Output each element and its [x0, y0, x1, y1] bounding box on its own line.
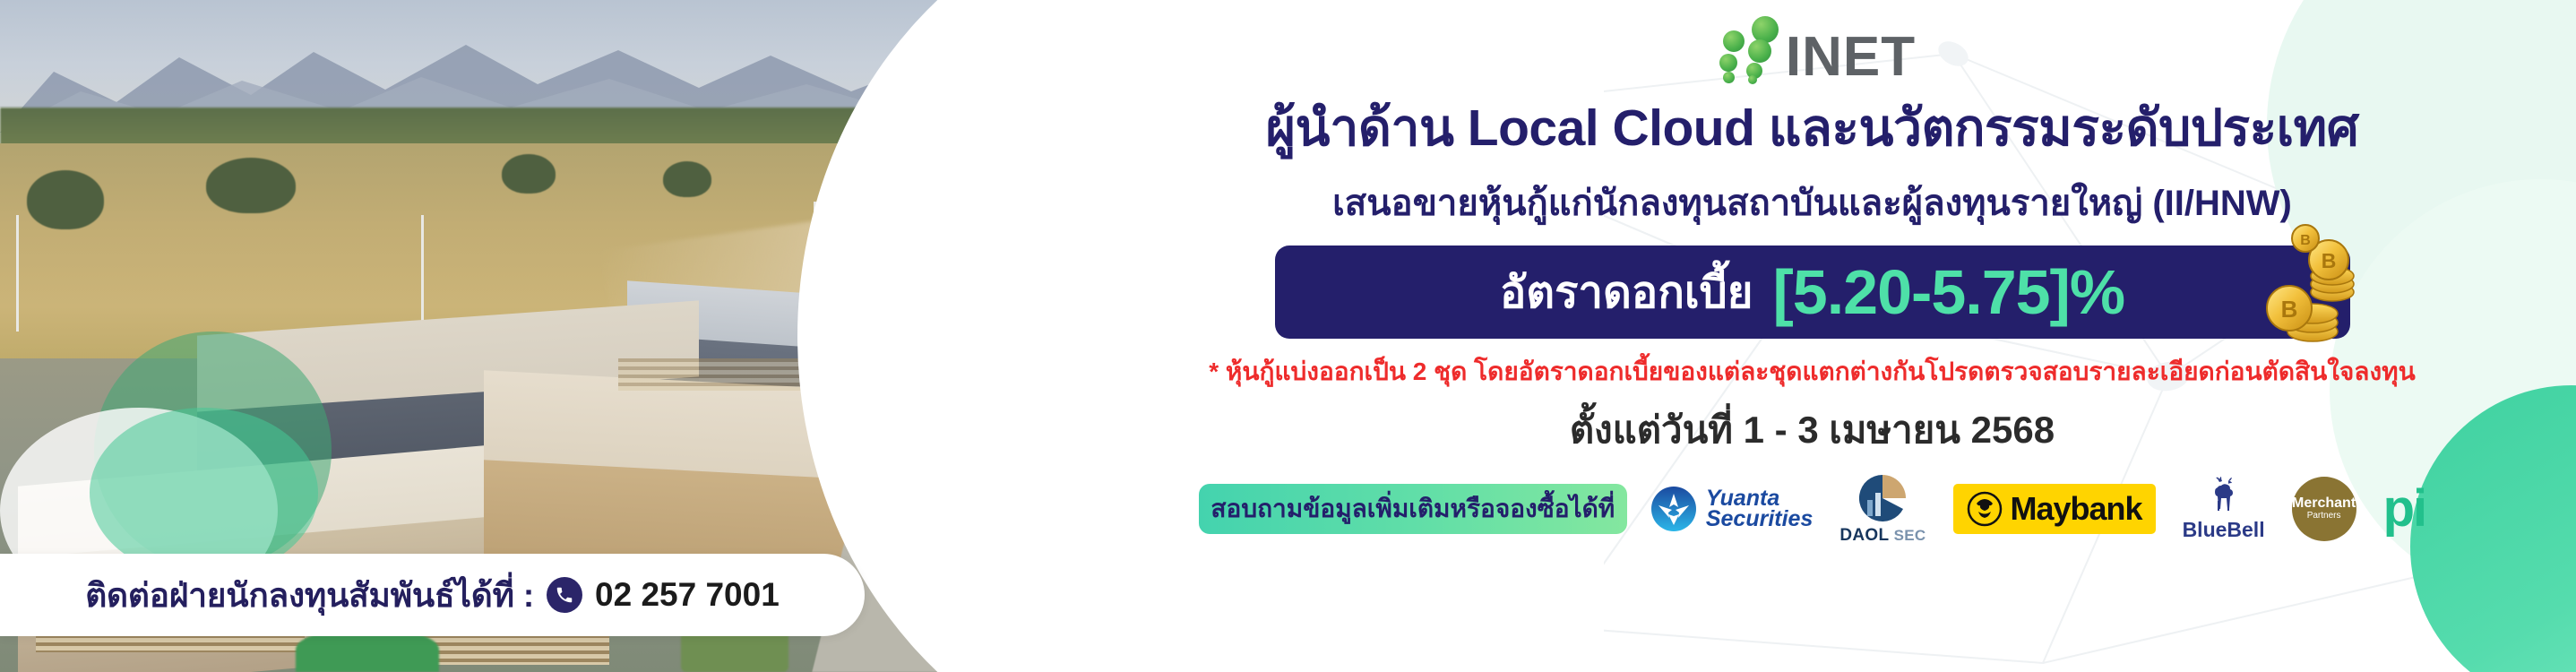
inquire-button[interactable]: สอบถามข้อมูลเพิ่มเติมหรือจองซื้อได้ที่ — [1199, 484, 1627, 534]
photo-tree — [206, 158, 296, 213]
broker-logo-bluebell[interactable]: BlueBell — [2183, 474, 2265, 544]
cta-and-brokers-row: สอบถามข้อมูลเพิ่มเติมหรือจองซื้อได้ที่ — [1199, 474, 2425, 544]
bluebell-deer-icon — [2203, 477, 2244, 516]
contact-label: ติดต่อฝ่ายนักลงทุนสัมพันธ์ได้ที่ : — [85, 569, 534, 622]
banner-content: INET ผู้นำด้าน Local Cloud และนวัตกรรมระ… — [1048, 0, 2576, 672]
photo-tree — [27, 170, 104, 229]
page-title: ผู้นำด้าน Local Cloud และนวัตกรรมระดับปร… — [1266, 88, 2359, 168]
daol-sub-text: SEC — [1894, 527, 1926, 544]
broker-logo-daol[interactable]: DAOL SEC — [1839, 474, 1926, 544]
svg-text:B: B — [2280, 296, 2297, 323]
broker-logo-yuanta[interactable]: Yuanta Securities — [1650, 474, 1814, 544]
investor-relations-contact[interactable]: ติดต่อฝ่ายนักลงทุนสัมพันธ์ได้ที่ : 02 25… — [0, 554, 865, 636]
inet-bubbles-icon — [1709, 13, 1786, 82]
bluebell-label: BlueBell — [2183, 518, 2265, 542]
maybank-label: Maybank — [2011, 490, 2142, 528]
offering-dates: ตั้งแต่วันที่ 1 - 3 เมษายน 2568 — [1570, 401, 2055, 460]
pi-wordmark-icon: pi — [2383, 488, 2426, 530]
green-circle-overlay-2 — [90, 408, 318, 578]
merchant-line2: Partners — [2307, 512, 2341, 521]
svg-text:B: B — [2321, 249, 2336, 272]
yuanta-star-icon — [1650, 486, 1697, 532]
gold-coins-icon: B B B — [2236, 222, 2370, 357]
maybank-tiger-icon — [1967, 491, 2003, 527]
merchant-circle-icon: Merchant Partners — [2292, 477, 2356, 541]
photo-tree — [663, 161, 711, 197]
contact-phone-number: 02 257 7001 — [595, 576, 780, 614]
yuanta-line2: Securities — [1706, 509, 1814, 530]
broker-logo-merchant-partners[interactable]: Merchant Partners — [2292, 474, 2356, 544]
daol-pie-icon — [1857, 473, 1908, 523]
inet-logo-text: INET — [1786, 32, 1916, 82]
interest-rate-label: อัตราดอกเบี้ย — [1500, 257, 1753, 327]
promotional-banner: ติดต่อฝ่ายนักลงทุนสัมพันธ์ได้ที่ : 02 25… — [0, 0, 2576, 672]
interest-rate-badge: อัตราดอกเบี้ย [5.20-5.75]% — [1275, 246, 2350, 339]
broker-logo-pi[interactable]: pi — [2383, 474, 2426, 544]
broker-logos: Yuanta Securities — [1650, 474, 2425, 544]
broker-logo-maybank[interactable]: Maybank — [1953, 474, 2156, 544]
daol-main-text: DAOL — [1839, 526, 1889, 545]
svg-text:B: B — [2300, 233, 2311, 248]
phone-icon — [547, 577, 582, 613]
photo-pole — [16, 215, 19, 332]
disclaimer-text: * หุ้นกู้แบ่งออกเป็น 2 ชุด โดยอัตราดอกเบ… — [1209, 352, 2416, 392]
merchant-line1: Merchant — [2292, 496, 2356, 512]
interest-rate-value: [5.20-5.75]% — [1772, 261, 2124, 323]
page-subtitle: เสนอขายหุ้นกู้แก่นักลงทุนสถาบันและผู้ลงท… — [1332, 174, 2292, 231]
inet-logo: INET — [1709, 13, 1916, 82]
photo-tree — [502, 154, 556, 194]
